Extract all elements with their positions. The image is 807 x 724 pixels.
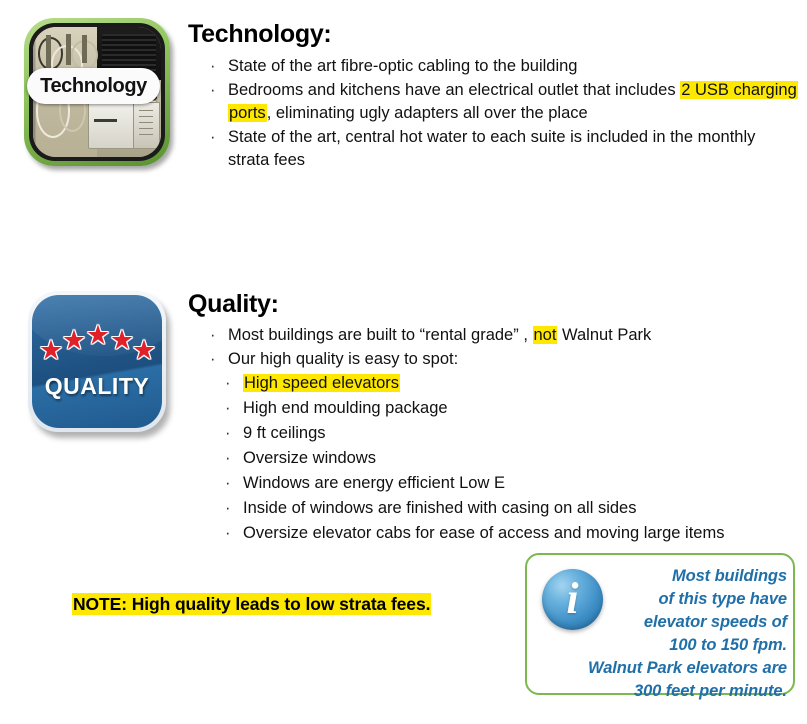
bullet-text: High end moulding package <box>243 399 448 417</box>
bullet-text: Our high quality is easy to spot: <box>228 350 458 368</box>
bullet-text: Oversize windows <box>243 449 376 467</box>
bullet-text: State of the art, central hot water to e… <box>228 128 755 170</box>
bullet-text: Windows are energy efficient Low E <box>243 474 505 492</box>
quality-sub-bullet-list: ·High speed elevators·High end moulding … <box>188 371 798 546</box>
bullet-dot-icon: · <box>225 446 231 471</box>
sub-bullet-item: ·Inside of windows are finished with cas… <box>223 496 798 521</box>
bullet-text: 9 ft ceilings <box>243 424 326 442</box>
quality-section: Quality: ·Most buildings are built to “r… <box>188 292 798 546</box>
sub-bullet-item: ·High end moulding package <box>223 396 798 421</box>
bullet-text: Inside of windows are finished with casi… <box>243 499 636 517</box>
star-icon: ★ <box>131 337 157 363</box>
bullet-item: ·State of the art, central hot water to … <box>206 126 798 173</box>
info-callout-line: elevator speeds of <box>537 611 787 634</box>
bullet-item: ·Our high quality is easy to spot: <box>206 348 798 372</box>
bullet-dot-icon: · <box>225 421 231 446</box>
bullet-item: ·State of the art fibre-optic cabling to… <box>206 55 798 79</box>
sub-bullet-item: ·9 ft ceilings <box>223 421 798 446</box>
bullet-text: State of the art fibre-optic cabling to … <box>228 57 577 75</box>
info-callout-line: Most buildings <box>537 565 787 588</box>
bullet-dot-icon: · <box>225 496 231 521</box>
bullet-dot-icon: · <box>210 126 216 150</box>
quality-badge-face: ★★★★★ QUALITY <box>32 295 162 428</box>
note-line: NOTE: High quality leads to low strata f… <box>72 594 431 615</box>
photo-vent <box>102 34 156 73</box>
quality-badge: ★★★★★ QUALITY <box>26 290 172 440</box>
bullet-dot-icon: · <box>225 396 231 421</box>
star-icon: ★ <box>61 327 87 353</box>
highlighted-text: not <box>533 326 558 344</box>
sub-bullet-item: ·High speed elevators <box>223 371 798 396</box>
photo-equipment-box-secondary <box>133 102 161 148</box>
note-line-text: NOTE: High quality leads to low strata f… <box>72 593 431 615</box>
bullet-dot-icon: · <box>225 471 231 496</box>
info-callout-line: 300 feet per minute. <box>537 680 787 703</box>
quality-heading: Quality: <box>188 292 798 317</box>
info-callout-line: 100 to 150 fpm. <box>537 634 787 657</box>
sub-bullet-item: ·Windows are energy efficient Low E <box>223 471 798 496</box>
bullet-text: Walnut Park <box>557 326 651 344</box>
bullet-dot-icon: · <box>225 371 231 396</box>
sub-bullet-item: ·Oversize elevator cabs for ease of acce… <box>223 521 798 546</box>
bullet-text: Oversize elevator cabs for ease of acces… <box>243 524 724 542</box>
sub-bullet-item: ·Oversize windows <box>223 446 798 471</box>
quality-bullet-list: ·Most buildings are built to “rental gra… <box>206 324 798 371</box>
star-icon: ★ <box>85 322 111 348</box>
bullet-item: ·Most buildings are built to “rental gra… <box>206 324 798 348</box>
technology-bullet-list: ·State of the art fibre-optic cabling to… <box>206 55 798 173</box>
technology-section: Technology: ·State of the art fibre-opti… <box>188 22 798 173</box>
bullet-dot-icon: · <box>225 521 231 546</box>
technology-icon-label-text: Technology <box>40 75 147 98</box>
bullet-item: ·Bedrooms and kitchens have an electrica… <box>206 79 798 126</box>
quality-badge-border: ★★★★★ QUALITY <box>28 291 166 432</box>
quality-badge-label: QUALITY <box>32 373 162 400</box>
photo-connector <box>66 34 71 65</box>
photo-connector <box>46 35 51 69</box>
info-callout-text: Most buildingsof this type haveelevator … <box>537 565 787 703</box>
technology-heading: Technology: <box>188 22 798 47</box>
bullet-text: Bedrooms and kitchens have an electrical… <box>228 81 680 99</box>
quality-star-row: ★★★★★ <box>32 321 162 363</box>
highlighted-text: High speed elevators <box>243 374 400 392</box>
bullet-dot-icon: · <box>210 348 216 372</box>
bullet-text: Most buildings are built to “rental grad… <box>228 326 533 344</box>
bullet-dot-icon: · <box>210 55 216 79</box>
technology-icon: Technology <box>24 18 170 166</box>
bullet-dot-icon: · <box>210 79 216 103</box>
bullet-text: , eliminating ugly adapters all over the… <box>267 104 588 122</box>
technology-icon-label-pill: Technology <box>27 68 160 104</box>
info-callout-line: Walnut Park elevators are <box>537 657 787 680</box>
bullet-dot-icon: · <box>210 324 216 348</box>
info-callout-line: of this type have <box>537 588 787 611</box>
photo-connector <box>82 35 87 64</box>
info-callout-box: i Most buildingsof this type haveelevato… <box>525 553 795 695</box>
